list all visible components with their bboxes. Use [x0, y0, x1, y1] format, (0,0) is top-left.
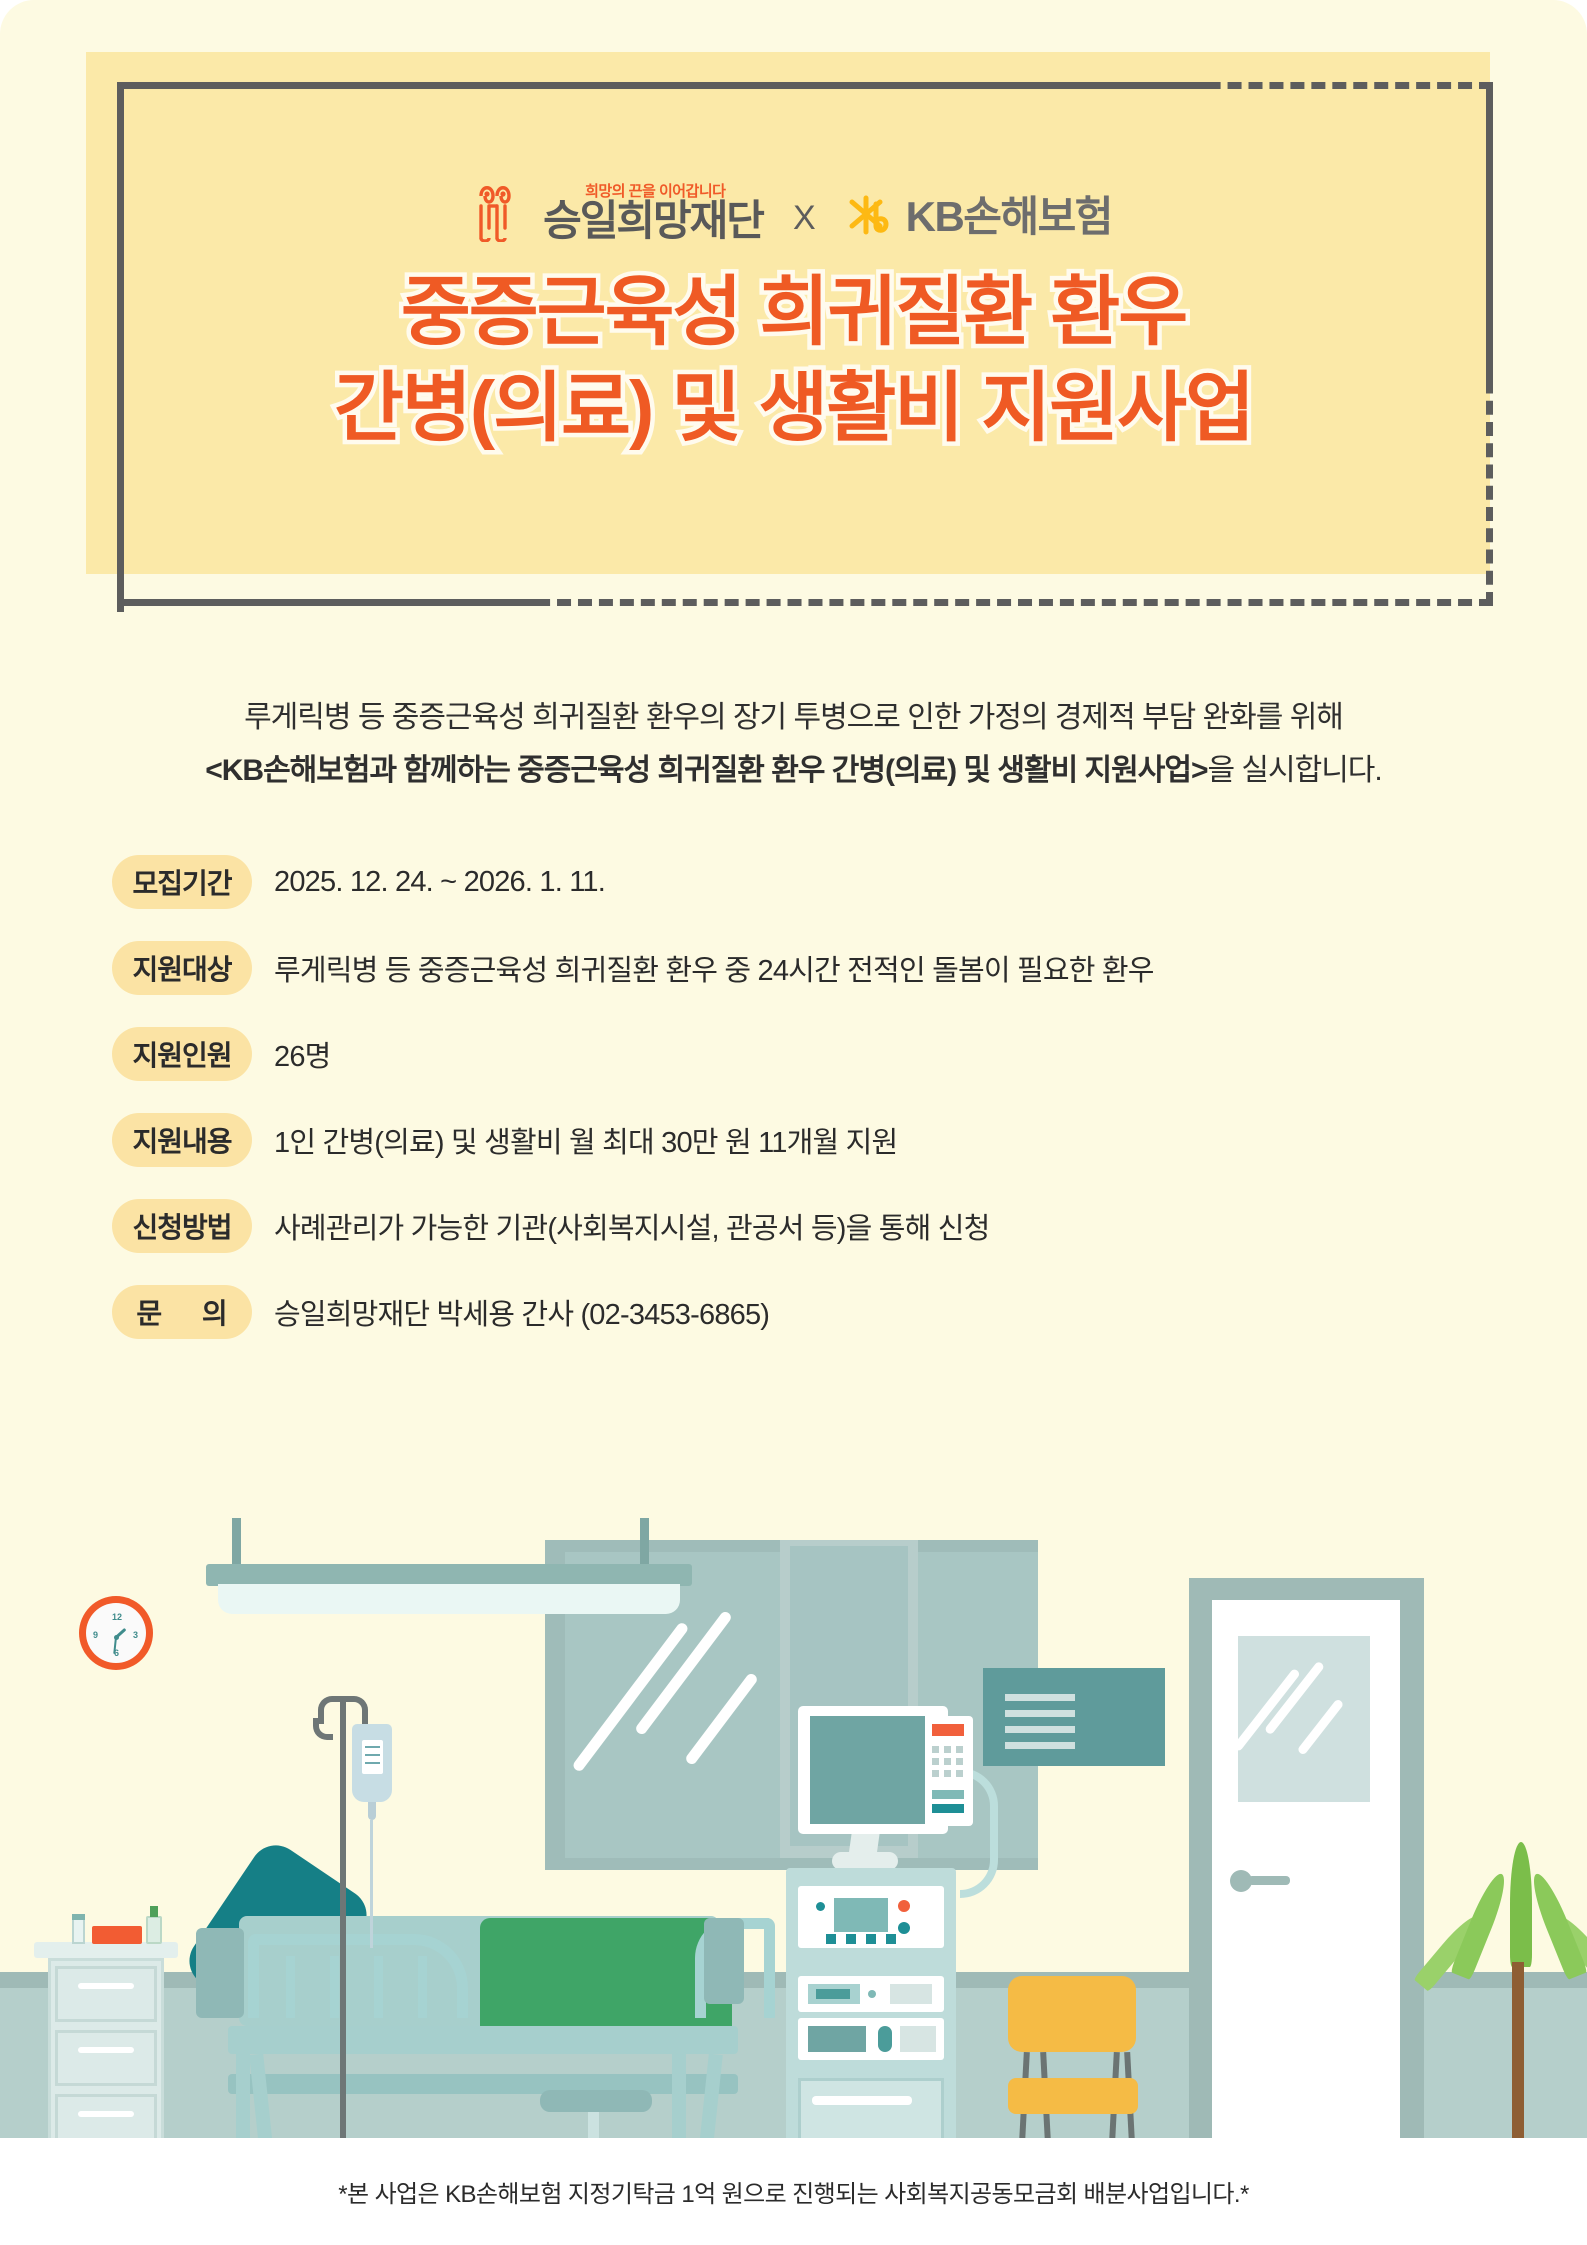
poster-root: 희망의 끈을 이어갑니다 승일희망재단 X KB손해보험 중증근육성 희귀질환 …	[0, 0, 1587, 2245]
monitor-screen	[810, 1716, 925, 1824]
bed-motor-left	[196, 1928, 244, 2018]
equipment-indicator-teal	[898, 1922, 910, 1934]
info-label-chip: 지원인원	[112, 1027, 252, 1081]
door-handle-icon	[1248, 1876, 1290, 1885]
monitor-teal-bar	[932, 1790, 964, 1799]
bed-lower-frame	[228, 2074, 738, 2094]
keypad-dot	[932, 1770, 939, 1777]
keypad-dot	[944, 1770, 951, 1777]
keypad-dot	[944, 1746, 951, 1753]
frame-solid-top	[117, 82, 1217, 89]
equipment-button	[886, 1934, 896, 1944]
tray-table-top	[540, 2090, 652, 2112]
info-label-chip: 모집기간	[112, 855, 252, 909]
info-label-chip: 문 의	[112, 1285, 252, 1339]
seungil-text-wrap: 희망의 끈을 이어갑니다 승일희망재단	[543, 184, 763, 242]
keypad-dot	[944, 1758, 951, 1765]
monitor-teal-bar	[932, 1804, 964, 1813]
info-row-support-details: 지원내용 1인 간병(의료) 및 생활비 월 최대 30만 원 11개월 지원	[112, 1113, 1532, 1167]
wall-sign	[983, 1668, 1165, 1766]
clock-number: 12	[112, 1612, 122, 1622]
info-label-chip: 신청방법	[112, 1199, 252, 1253]
chair-backrest	[1008, 1976, 1136, 2052]
sign-text-line	[1005, 1694, 1075, 1701]
chair-seat	[1008, 2078, 1138, 2114]
iv-drip-chamber	[368, 1802, 376, 1820]
red-tray	[92, 1926, 142, 1944]
equipment-screen	[834, 1898, 888, 1932]
intro-line-2: <KB손해보험과 함께하는 중증근육성 희귀질환 환우 간병(의료) 및 생활비…	[0, 748, 1587, 793]
info-value: 승일희망재단 박세용 간사 (02-3453-6865)	[274, 1291, 769, 1333]
nightstand-top	[34, 1942, 178, 1958]
equipment-indicator	[868, 1990, 876, 1998]
intro-line-2-bold: <KB손해보험과 함께하는 중증근육성 희귀질환 환우 간병(의료) 및 생활비…	[205, 754, 1207, 787]
sign-text-line	[1005, 1726, 1075, 1733]
monitor-red-indicator	[932, 1724, 964, 1736]
equipment-indicator	[816, 1902, 825, 1911]
keypad-dot	[956, 1746, 963, 1753]
plant-leaf	[1510, 1842, 1532, 1967]
logo-separator-x: X	[793, 199, 816, 242]
seungil-mark-icon	[475, 180, 533, 242]
keypad-dot	[932, 1746, 939, 1753]
hospital-room-illustration: 12 3 6 9	[0, 1478, 1587, 2138]
bottle-cap	[150, 1906, 158, 1917]
info-row-recruit-period: 모집기간 2025. 12. 24. ~ 2026. 1. 11.	[112, 855, 1532, 909]
clock-number: 9	[93, 1630, 98, 1640]
intro-line-1: 루게릭병 등 중증근육성 희귀질환 환우의 장기 투병으로 인한 가정의 경제적…	[0, 695, 1587, 740]
drawer-handle	[812, 2096, 912, 2105]
rail-bar	[286, 1956, 295, 2018]
info-label-chip: 지원내용	[112, 1113, 252, 1167]
medicine-bottle-icon	[146, 1916, 162, 1944]
equipment-knob	[878, 2026, 892, 2052]
info-label-chip: 지원대상	[112, 941, 252, 995]
info-row-headcount: 지원인원 26명	[112, 1027, 1532, 1081]
vial-cap	[72, 1914, 85, 1920]
equipment-drawer	[798, 2078, 944, 2138]
equipment-indicator-red	[898, 1900, 910, 1912]
clock-number: 3	[133, 1630, 138, 1640]
info-value: 26명	[274, 1033, 331, 1075]
equipment-vent	[890, 1984, 932, 2004]
rail-bar	[330, 1956, 339, 2018]
info-row-how-to-apply: 신청방법 사례관리가 가능한 기관(사회복지시설, 관공서 등)을 통해 신청	[112, 1199, 1532, 1253]
equipment-button	[826, 1934, 836, 1944]
frame-solid-bottom	[117, 599, 537, 606]
equipment-button	[846, 1934, 856, 1944]
lamp-glow	[218, 1584, 680, 1614]
medicine-vial-icon	[72, 1918, 85, 1944]
nightstand-drawer	[55, 1966, 157, 2022]
poster-title: 중증근육성 희귀질환 환우 간병(의료) 및 생활비 지원사업	[0, 265, 1587, 457]
iv-bag-graduation	[365, 1754, 380, 1756]
lamp-rod-icon	[232, 1518, 241, 1568]
clock-pin	[114, 1635, 119, 1640]
clock-face: 12 3 6 9	[86, 1603, 146, 1663]
drawer-handle	[78, 1983, 134, 1989]
kb-insurance-logo: KB손해보험	[846, 192, 1112, 242]
sign-text-line	[1005, 1742, 1075, 1749]
drawer-handle	[78, 2047, 134, 2053]
equipment-bar	[816, 1989, 850, 1999]
bed-leg	[672, 2054, 686, 2138]
info-row-contact: 문 의 승일희망재단 박세용 간사 (02-3453-6865)	[112, 1285, 1532, 1339]
lamp-rod-icon	[640, 1518, 649, 1568]
keypad-dot	[956, 1758, 963, 1765]
seungil-name: 승일희망재단	[543, 200, 763, 242]
kb-star-icon	[846, 192, 896, 242]
info-value: 사례관리가 가능한 기관(사회복지시설, 관공서 등)을 통해 신청	[274, 1205, 990, 1247]
iv-hook-icon	[313, 1718, 333, 1740]
bed-frame	[228, 2026, 738, 2054]
bed-leg	[236, 2054, 250, 2138]
equipment-side-panel	[900, 2026, 936, 2052]
kb-name: KB손해보험	[906, 196, 1112, 238]
intro-paragraph: 루게릭병 등 중증근육성 희귀질환 환우의 장기 투병으로 인한 가정의 경제적…	[0, 695, 1587, 793]
bed-side-rail	[248, 1934, 468, 2018]
equipment-screen	[808, 2026, 866, 2052]
keypad-dot	[932, 1758, 939, 1765]
tray-table-stem	[588, 2112, 599, 2138]
iv-bag-graduation	[365, 1762, 380, 1764]
title-line-1: 중증근육성 희귀질환 환우	[0, 265, 1587, 361]
footer-note: *본 사업은 KB손해보험 지정기탁금 1억 원으로 진행되는 사회복지공동모금…	[338, 2174, 1248, 2209]
plant-leaf	[1526, 1870, 1587, 1980]
rail-bar	[418, 1956, 427, 2018]
drawer-handle	[78, 2111, 134, 2117]
ceiling-lamp	[206, 1564, 692, 1586]
info-value: 1인 간병(의료) 및 생활비 월 최대 30만 원 11개월 지원	[274, 1119, 897, 1161]
seungil-foundation-logo: 희망의 끈을 이어갑니다 승일희망재단	[475, 180, 763, 242]
iv-tube	[370, 1820, 373, 1948]
equipment-button	[866, 1934, 876, 1944]
plant-trunk	[1512, 1962, 1524, 2138]
wall-clock-icon: 12 3 6 9	[79, 1596, 153, 1670]
logo-row: 희망의 끈을 이어갑니다 승일희망재단 X KB손해보험	[0, 162, 1587, 242]
nightstand-drawer	[55, 2030, 157, 2086]
sign-text-line	[1005, 1710, 1075, 1717]
bed-motor-right	[704, 1918, 744, 2004]
iv-pole	[340, 1700, 346, 2138]
rail-bar	[374, 1956, 383, 2018]
title-line-2: 간병(의료) 및 생활비 지원사업	[0, 361, 1587, 457]
keypad-dot	[956, 1770, 963, 1777]
intro-line-2-tail: 을 실시합니다.	[1207, 754, 1381, 787]
footer-band: *본 사업은 KB손해보험 지정기탁금 1억 원으로 진행되는 사회복지공동모금…	[0, 2138, 1587, 2245]
info-list: 모집기간 2025. 12. 24. ~ 2026. 1. 11. 지원대상 루…	[112, 855, 1532, 1371]
info-value: 루게릭병 등 중증근육성 희귀질환 환우 중 24시간 전적인 돌봄이 필요한 …	[274, 947, 1154, 989]
iv-bag-graduation	[365, 1746, 380, 1748]
info-row-target: 지원대상 루게릭병 등 중증근육성 희귀질환 환우 중 24시간 전적인 돌봄이…	[112, 941, 1532, 995]
info-value: 2025. 12. 24. ~ 2026. 1. 11.	[274, 866, 605, 899]
